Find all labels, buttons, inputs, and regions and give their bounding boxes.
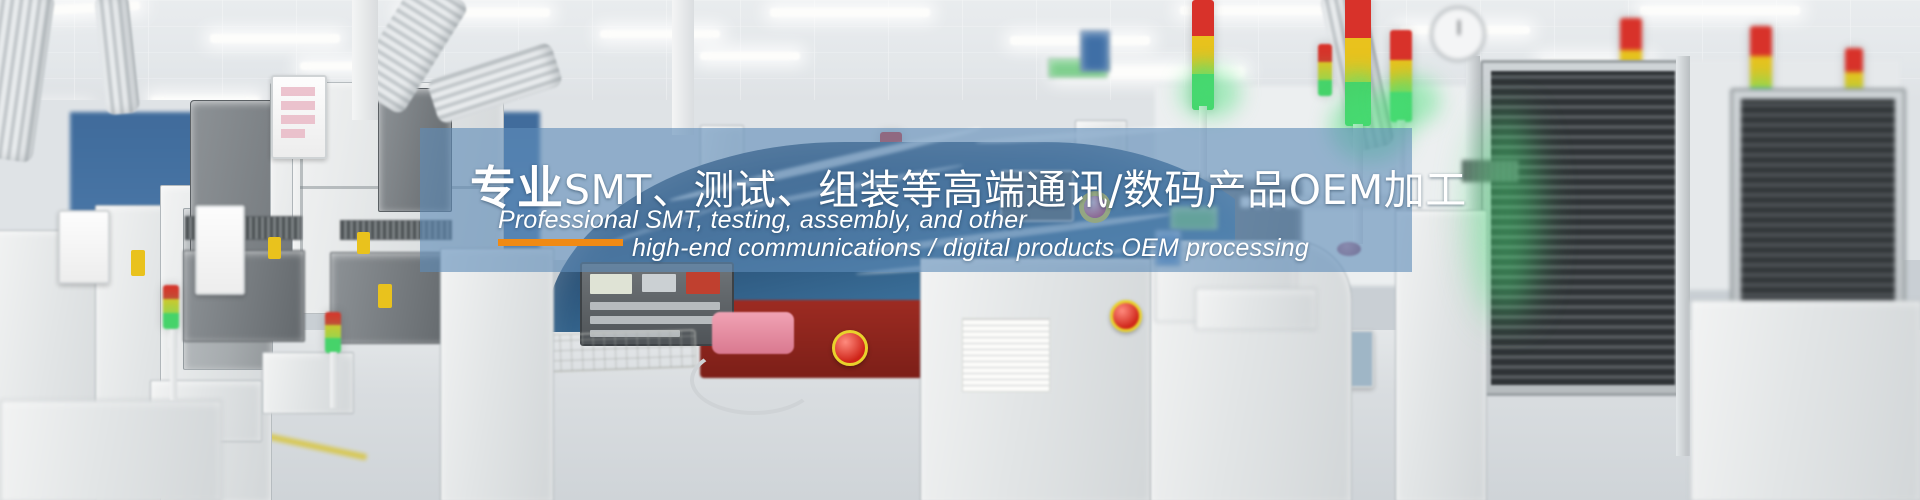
subtitle-line-1: Professional SMT, testing, assembly, and…: [498, 206, 1027, 235]
hmi-touch-screen: [58, 210, 110, 284]
warning-label: [378, 284, 392, 308]
support-column: [352, 0, 378, 120]
pink-esd-material: [712, 312, 794, 354]
accent-bar: [498, 239, 623, 246]
screen-content: [281, 129, 305, 138]
ceiling-light: [700, 52, 800, 60]
panel-button: [686, 272, 720, 294]
headline-overlay-panel: 专业SMT、测试、组装等高端通讯/数码产品OEM加工 Professional …: [420, 128, 1412, 272]
machine-base: [0, 400, 222, 500]
posted-document: [962, 318, 1050, 392]
warning-label: [131, 250, 145, 276]
wall-clock: [1430, 6, 1486, 62]
stack-light-glow: [1380, 76, 1440, 126]
stack-light-pole: [170, 330, 177, 400]
keyboard-tray: [547, 329, 696, 372]
hero-banner: 专业SMT、测试、组装等高端通讯/数码产品OEM加工 Professional …: [0, 0, 1920, 500]
cable: [690, 345, 818, 415]
screen-content: [281, 101, 315, 110]
emergency-stop-button: [1110, 300, 1142, 332]
screen-content: [281, 115, 315, 124]
hmi-touch-screen: [271, 75, 327, 159]
panel-button: [590, 316, 720, 324]
andon-stack-light: [325, 312, 341, 353]
machine-cabinet: [440, 248, 554, 500]
rack-frame-post: [1676, 56, 1690, 456]
andon-stack-light: [163, 285, 179, 329]
warning-label: [357, 232, 370, 254]
workbench: [1195, 288, 1317, 330]
sign-board: [1080, 30, 1110, 72]
stack-light-pole: [330, 352, 337, 408]
andon-stack-light: [1318, 44, 1332, 96]
emergency-stop-button: [832, 330, 868, 366]
panel-button: [590, 302, 720, 310]
subtitle-line-2: high-end communications / digital produc…: [632, 234, 1309, 263]
panel-button: [642, 274, 676, 292]
hmi-touch-screen: [195, 205, 245, 295]
ceiling-light: [770, 8, 930, 17]
feeder-cart: [262, 352, 354, 414]
screen-content: [281, 87, 315, 96]
ceiling-light: [210, 34, 340, 43]
ceiling-light: [1640, 6, 1800, 15]
ceiling-light: [600, 30, 720, 38]
rack-green-glow: [1470, 110, 1540, 320]
stack-light-glow: [1180, 68, 1240, 118]
warning-label: [268, 237, 281, 259]
panel-button: [590, 274, 632, 294]
machine-cabinet: [1690, 300, 1920, 500]
